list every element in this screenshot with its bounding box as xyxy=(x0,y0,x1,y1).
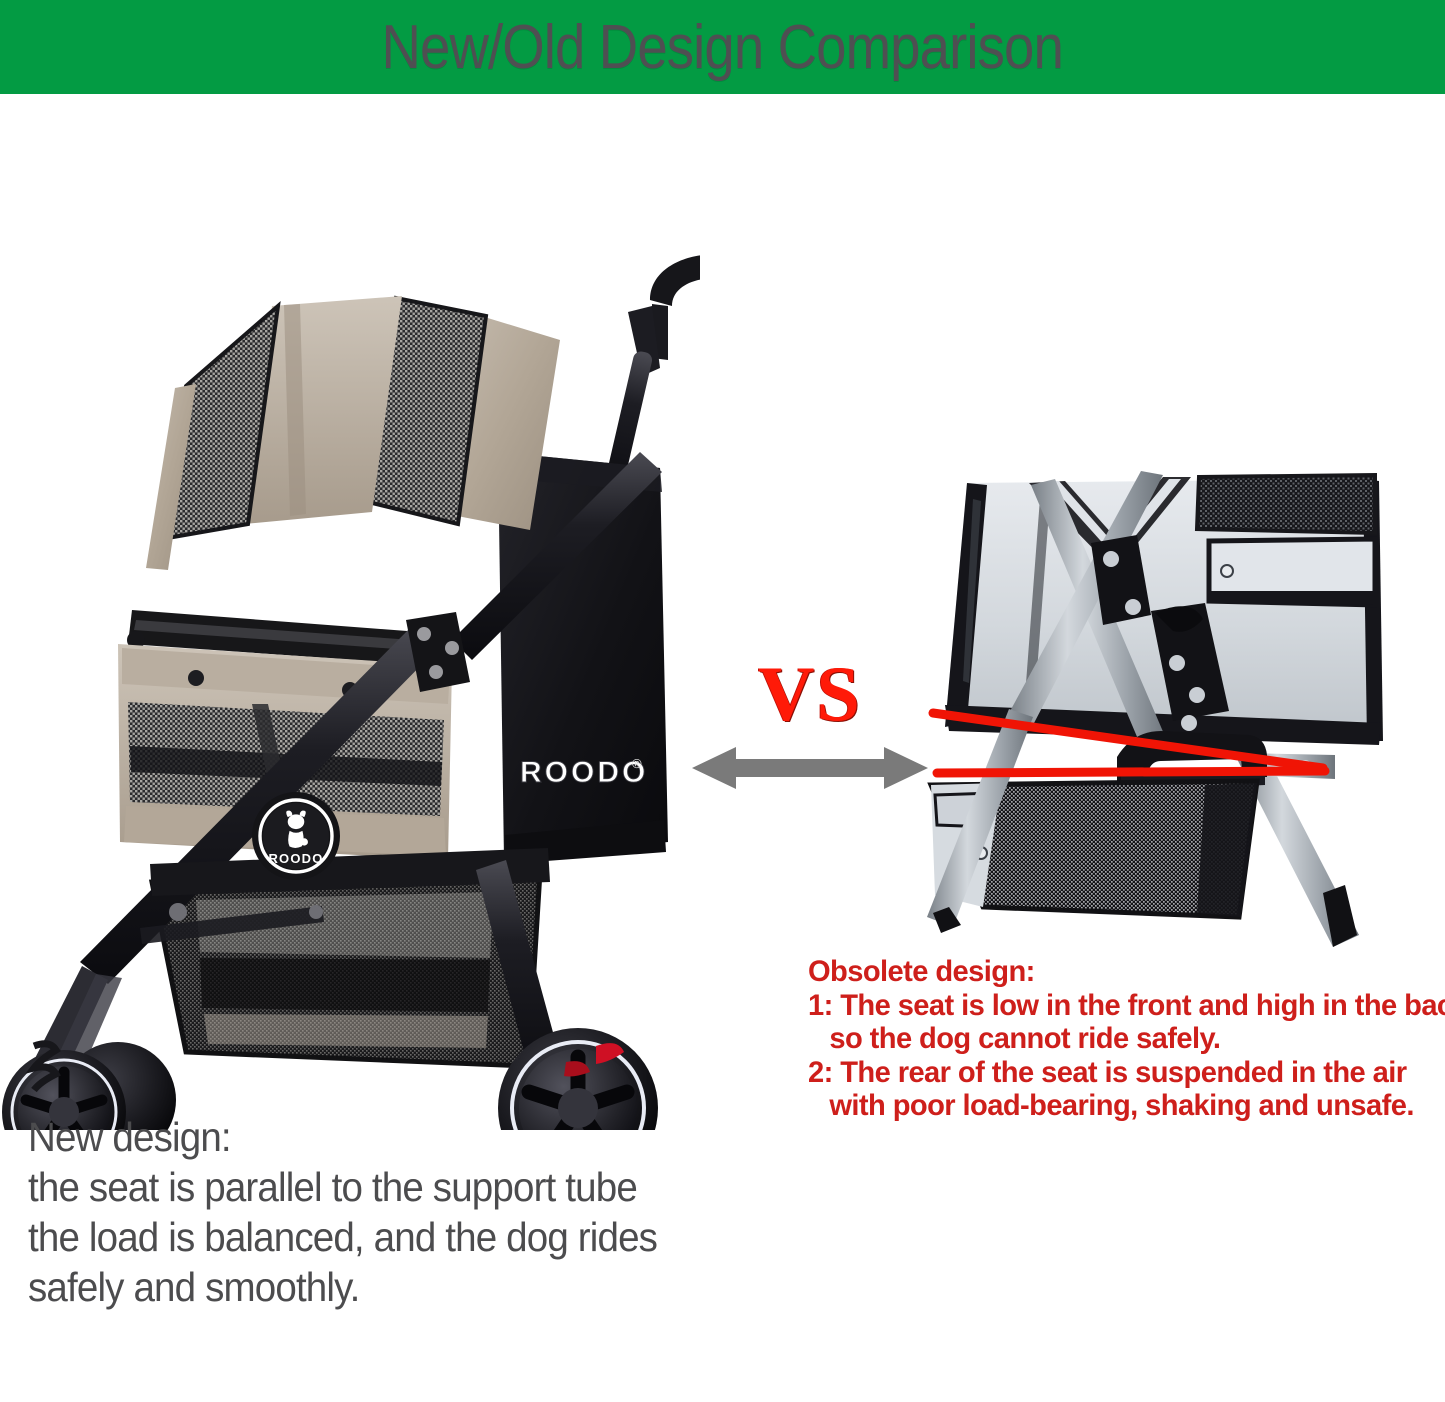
svg-text:ROODO: ROODO xyxy=(520,756,648,789)
old-stroller-illustration xyxy=(905,455,1445,955)
header-banner: New/Old Design Comparison xyxy=(0,0,1445,97)
new-stroller-illustration: ROODO ® xyxy=(0,100,700,1130)
svg-text:®: ® xyxy=(632,756,642,771)
new-design-line-2: the load is balanced, and the dog rides xyxy=(28,1212,761,1262)
storage-basket xyxy=(152,872,540,1066)
new-design-note: New design: the seat is parallel to the … xyxy=(28,1112,808,1312)
page-title: New/Old Design Comparison xyxy=(382,12,1064,83)
vs-label: VS xyxy=(690,655,930,733)
new-design-heading: New design: xyxy=(28,1112,761,1162)
old-design-product-image xyxy=(905,455,1445,955)
svg-text:ROODO: ROODO xyxy=(268,851,323,866)
push-handle-icon xyxy=(650,254,700,411)
snap-button xyxy=(188,670,204,686)
new-design-product-image: ROODO ® xyxy=(0,100,700,1130)
double-headed-arrow-icon xyxy=(692,745,928,791)
obsolete-heading: Obsolete design: xyxy=(808,955,1429,989)
new-design-line-1: the seat is parallel to the support tube xyxy=(28,1162,761,1212)
obsolete-line-1: 1: The seat is low in the front and high… xyxy=(808,989,1429,1023)
comparison-infographic: New/Old Design Comparison xyxy=(0,0,1445,1402)
obsolete-line-3: 2: The rear of the seat is suspended in … xyxy=(808,1056,1429,1090)
obsolete-design-note: Obsolete design: 1: The seat is low in t… xyxy=(808,955,1445,1123)
roodo-badge: ROODO xyxy=(252,792,340,880)
obsolete-line-4: with poor load-bearing, shaking and unsa… xyxy=(808,1089,1429,1123)
versus-indicator: VS xyxy=(690,655,930,815)
obsolete-line-2: so the dog cannot ride safely. xyxy=(808,1022,1429,1056)
roodo-wordmark: ROODO ® xyxy=(520,756,648,789)
new-design-line-3: safely and smoothly. xyxy=(28,1262,761,1312)
